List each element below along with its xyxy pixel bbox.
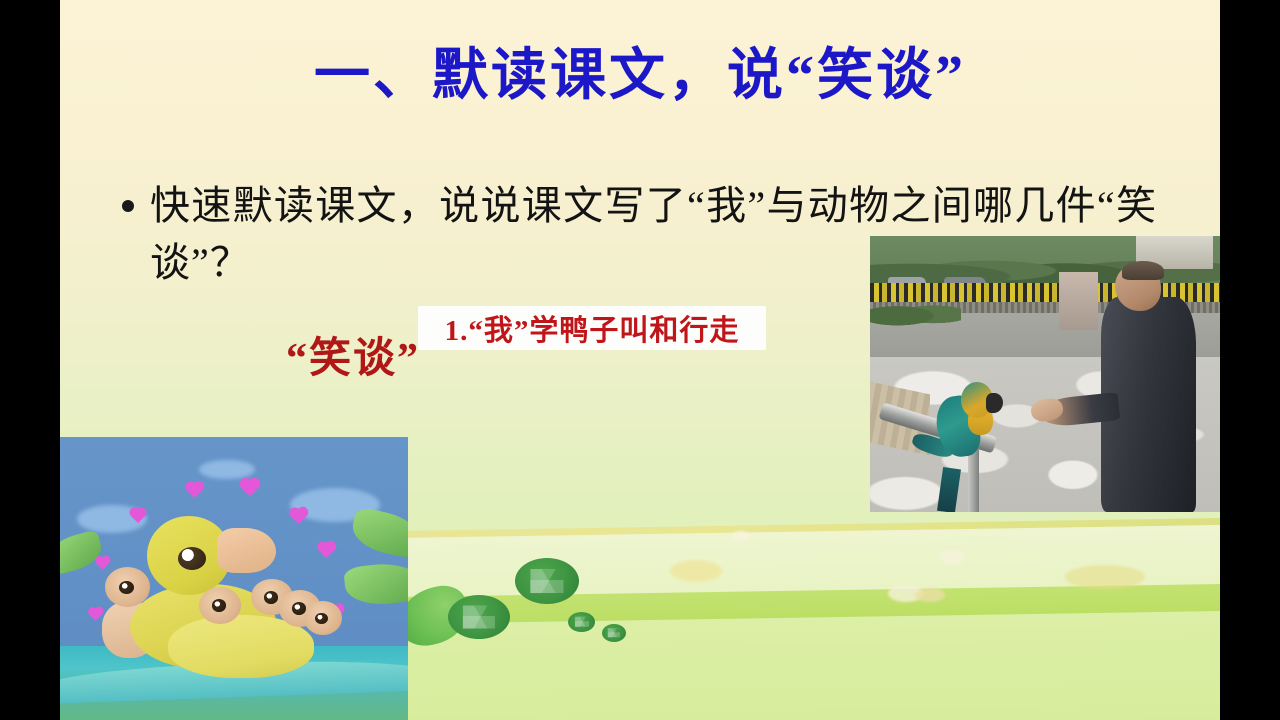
answer-callout-box: 1.“我”学鸭子叫和行走: [418, 306, 766, 350]
answer-text: 1.“我”学鸭子叫和行走: [445, 307, 740, 349]
xiaotan-label: “笑谈”: [286, 324, 420, 385]
decor-blob: [1065, 565, 1145, 589]
bullet-marker-icon: [122, 200, 134, 212]
photo-bush: [870, 299, 961, 327]
cartoon-leaf-icon: [60, 529, 105, 576]
cartoon-heart-icon: [291, 508, 307, 524]
screenshot-stage: 一、默读课文，说“笑谈” 快速默读课文，说说课文写了“我”与动物之间哪几件“笑谈…: [0, 0, 1280, 720]
cartoon-mother-duck-eye: [178, 547, 206, 570]
letterbox-bar-left: [0, 0, 60, 720]
decor-blob: [940, 550, 964, 564]
cartoon-duckling-head: [105, 567, 150, 607]
cartoon-leaf-icon: [343, 560, 408, 607]
cartoon-mother-duck-with-ducklings: [60, 437, 408, 720]
decor-blob: [732, 531, 750, 541]
decor-lily-pad-icon: [602, 624, 626, 642]
cartoon-heart-icon: [242, 480, 259, 497]
cartoon-heart-icon: [89, 608, 102, 621]
cartoon-heart-icon: [96, 557, 109, 570]
decor-blob: [670, 560, 722, 582]
photo-parrot-beak: [986, 393, 1004, 412]
slide-title: 一、默读课文，说“笑谈”: [60, 44, 1220, 108]
letterbox-bar-right: [1220, 0, 1280, 720]
photo-man-feeding-macaw: [870, 236, 1220, 512]
decor-lily-pad-icon: [515, 558, 579, 604]
presentation-slide: 一、默读课文，说“笑谈” 快速默读课文，说说课文写了“我”与动物之间哪几件“笑谈…: [60, 0, 1220, 720]
decor-lily-pad-icon: [448, 595, 510, 639]
photo-man-hair: [1122, 261, 1164, 280]
cartoon-heart-icon: [319, 542, 335, 558]
cartoon-mother-duck-beak: [217, 528, 276, 573]
cartoon-duckling-head: [199, 587, 241, 624]
photo-gate-pillar: [1059, 272, 1098, 330]
cartoon-duckling-head: [304, 601, 342, 635]
decor-blob: [915, 588, 945, 602]
decor-lily-pad-icon: [568, 612, 595, 632]
cartoon-leaf-icon: [349, 507, 408, 560]
cartoon-heart-icon: [186, 483, 202, 499]
